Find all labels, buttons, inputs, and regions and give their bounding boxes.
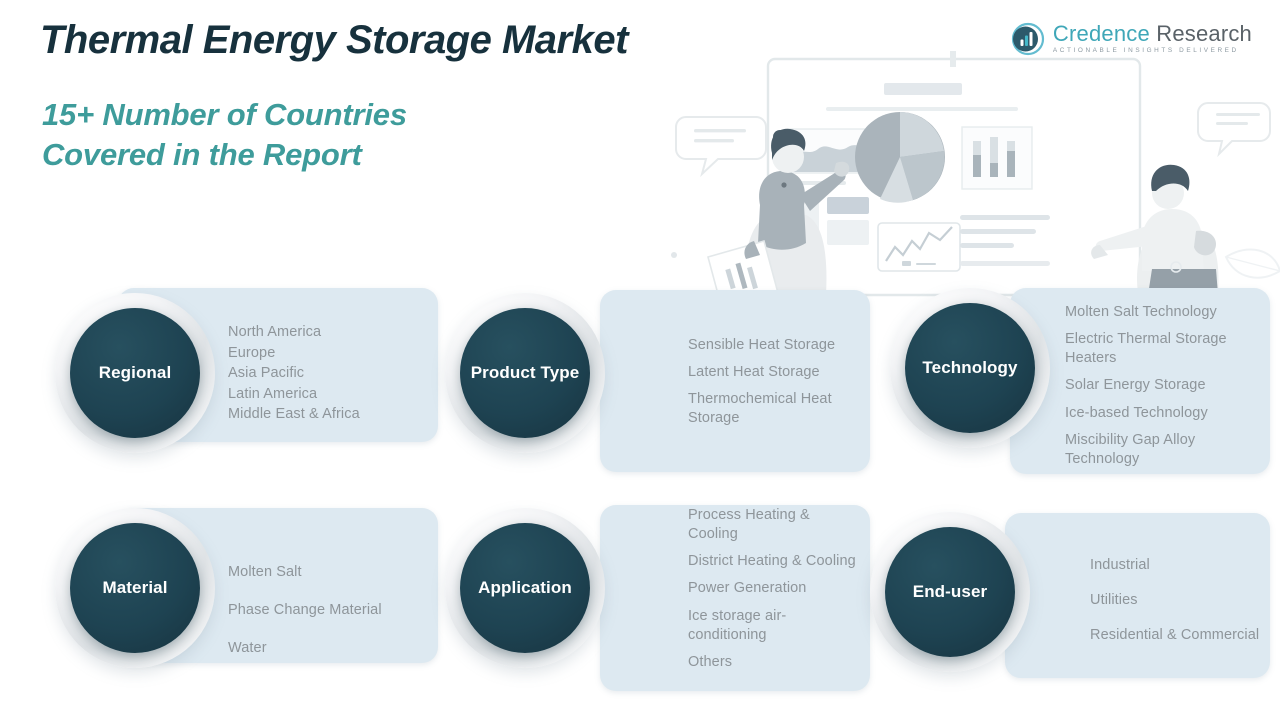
speech-bubble-right <box>1198 103 1270 154</box>
list-item: Utilities <box>1090 591 1265 610</box>
circle-material[interactable]: Material <box>55 508 215 668</box>
circle-technology[interactable]: Technology <box>890 288 1050 448</box>
list-item: Ice-based Technology <box>1065 404 1265 423</box>
card-label-application: Application <box>478 578 572 598</box>
card-label-product-type: Product Type <box>471 363 580 383</box>
logo-brand-secondary: Research <box>1156 21 1252 46</box>
page-title: Thermal Energy Storage Market <box>40 18 628 63</box>
list-item: Process Heating & Cooling <box>688 506 863 544</box>
panel-list-end-user: Industrial Utilities Residential & Comme… <box>1090 556 1265 645</box>
panel-list-technology: Molten Salt Technology Electric Thermal … <box>1065 303 1265 469</box>
line-chart <box>878 223 960 271</box>
card-label-end-user: End-user <box>913 582 987 602</box>
list-item: Industrial <box>1090 556 1265 575</box>
circle-product-type[interactable]: Product Type <box>445 293 605 453</box>
list-item: Water <box>228 639 438 658</box>
circle-body[interactable]: Regional <box>70 308 200 438</box>
pie-chart <box>855 112 945 203</box>
logo-wordmark: Credence Research <box>1053 23 1252 45</box>
panel-list-product-type: Sensible Heat Storage Latent Heat Storag… <box>688 336 868 429</box>
circle-body[interactable]: Material <box>70 523 200 653</box>
list-item: Asia Pacific <box>228 363 438 384</box>
list-item: Sensible Heat Storage <box>688 336 868 355</box>
logo-brand-primary: Credence <box>1053 21 1150 46</box>
plant-leaf-icon <box>1226 249 1280 277</box>
list-item: Latent Heat Storage <box>688 363 868 382</box>
panel-list-material: Molten Salt Phase Change Material Water <box>228 563 438 658</box>
list-item: Solar Energy Storage <box>1065 376 1265 395</box>
card-label-regional: Regional <box>99 363 172 383</box>
list-item: Latin America <box>228 384 438 405</box>
infographic-canvas: Thermal Energy Storage Market 15+ Number… <box>0 0 1280 720</box>
list-item: Thermochemical Heat Storage <box>688 390 868 428</box>
list-item: Ice storage air-conditioning <box>688 607 863 645</box>
bar-chart <box>962 127 1032 189</box>
list-item: North America <box>228 322 438 343</box>
page-subtitle-line-2: Covered in the Report <box>42 135 602 175</box>
card-label-material: Material <box>102 578 167 598</box>
circle-body[interactable]: Technology <box>905 303 1035 433</box>
list-item: Middle East & Africa <box>228 404 438 425</box>
list-item: District Heating & Cooling <box>688 552 863 571</box>
list-item: Molten Salt Technology <box>1065 303 1265 322</box>
speech-bubble-left <box>676 117 766 174</box>
page-subtitle-line-1: 15+ Number of Countries <box>42 95 602 135</box>
list-item: Residential & Commercial <box>1090 626 1265 645</box>
card-label-technology: Technology <box>922 358 1017 378</box>
circle-body[interactable]: Application <box>460 523 590 653</box>
panel-list-regional: North America Europe Asia Pacific Latin … <box>228 322 438 425</box>
list-item: Miscibility Gap Alloy Technology <box>1065 431 1265 469</box>
page-subtitle: 15+ Number of Countries Covered in the R… <box>42 95 602 174</box>
panel-list-application: Process Heating & Cooling District Heati… <box>688 506 863 672</box>
list-item: Europe <box>228 343 438 364</box>
circle-body[interactable]: Product Type <box>460 308 590 438</box>
list-item: Power Generation <box>688 579 863 598</box>
list-item: Others <box>688 653 863 672</box>
circle-end-user[interactable]: End-user <box>870 512 1030 672</box>
list-item: Electric Thermal Storage Heaters <box>1065 330 1265 368</box>
list-item: Phase Change Material <box>228 601 438 620</box>
circle-application[interactable]: Application <box>445 508 605 668</box>
list-item: Molten Salt <box>228 563 438 582</box>
circle-body[interactable]: End-user <box>885 527 1015 657</box>
circle-regional[interactable]: Regional <box>55 293 215 453</box>
